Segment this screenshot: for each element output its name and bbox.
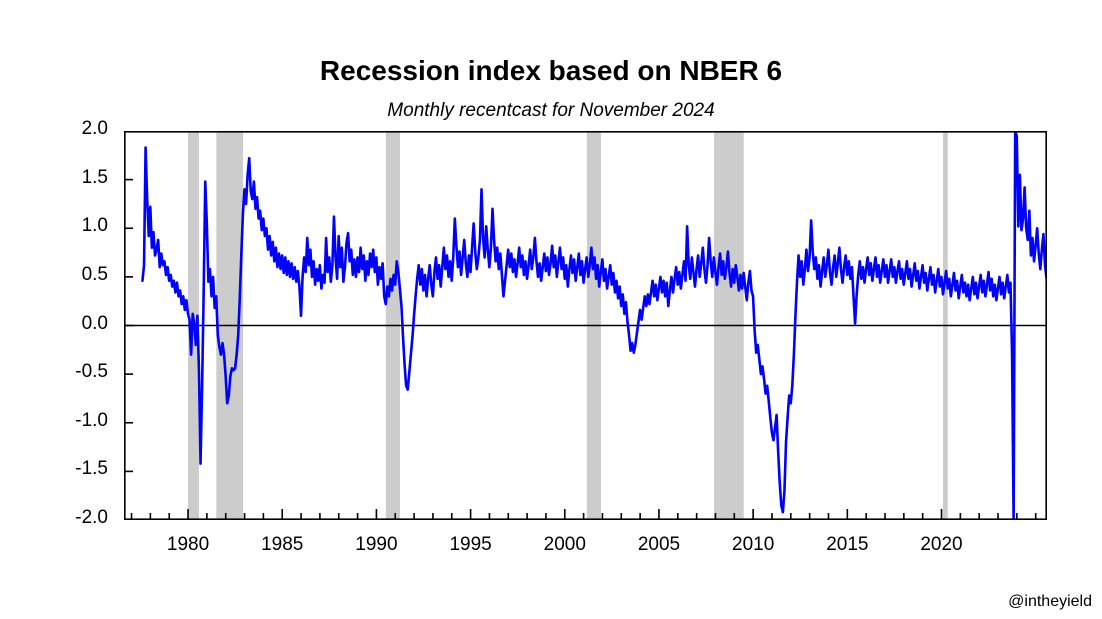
x-tick-label: 2020: [920, 534, 962, 556]
y-tick-label: -1.5: [75, 458, 108, 480]
y-tick-label: -0.5: [75, 361, 108, 383]
plot-canvas: [124, 131, 1047, 520]
x-tick-label: 2005: [638, 534, 680, 556]
y-tick-label: 0.0: [82, 313, 108, 335]
chart-figure: Recession index based on NBER 6 Monthly …: [0, 0, 1102, 619]
y-tick-label: 1.0: [82, 215, 108, 237]
x-axis-tick-labels: 198019851990199520002005201020152020: [124, 534, 1047, 564]
x-tick-label: 2000: [544, 534, 586, 556]
y-axis-tick-labels: 2.01.51.00.50.0-0.5-1.0-1.5-2.0: [46, 131, 108, 520]
chart-title: Recession index based on NBER 6: [0, 55, 1102, 87]
x-tick-label: 1990: [355, 534, 397, 556]
x-tick-label: 1980: [167, 534, 209, 556]
x-tick-label: 1995: [449, 534, 491, 556]
x-tick-label: 1985: [261, 534, 303, 556]
watermark-label: @intheyield: [1008, 593, 1092, 611]
y-tick-label: -1.0: [75, 410, 108, 432]
chart-subtitle: Monthly recentcast for November 2024: [0, 100, 1102, 122]
y-tick-label: 0.5: [82, 264, 108, 286]
y-tick-label: 1.5: [82, 167, 108, 189]
y-tick-label: 2.0: [82, 118, 108, 140]
y-tick-label: -2.0: [75, 507, 108, 529]
x-tick-label: 2015: [826, 534, 868, 556]
x-tick-label: 2010: [732, 534, 774, 556]
plot-area: [124, 131, 1047, 520]
